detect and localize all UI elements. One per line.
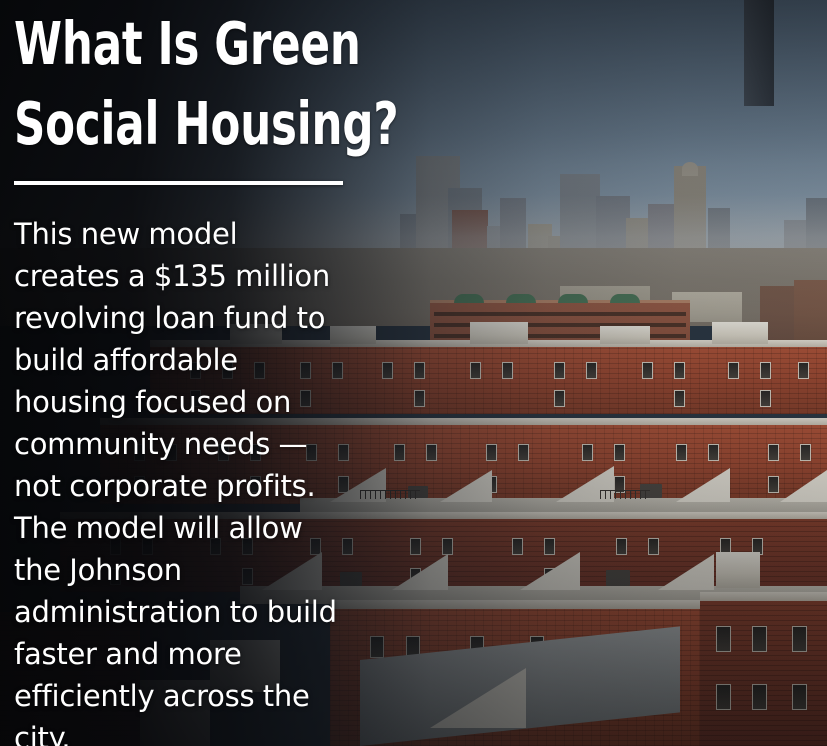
page-title: What Is Green Social Housing?	[14, 4, 473, 164]
body-paragraph: This new model creates a $135 million re…	[14, 213, 344, 746]
card-content: What Is Green Social Housing? This new m…	[0, 0, 827, 746]
social-graphic-card: What Is Green Social Housing? This new m…	[0, 0, 827, 746]
title-divider	[14, 181, 343, 185]
